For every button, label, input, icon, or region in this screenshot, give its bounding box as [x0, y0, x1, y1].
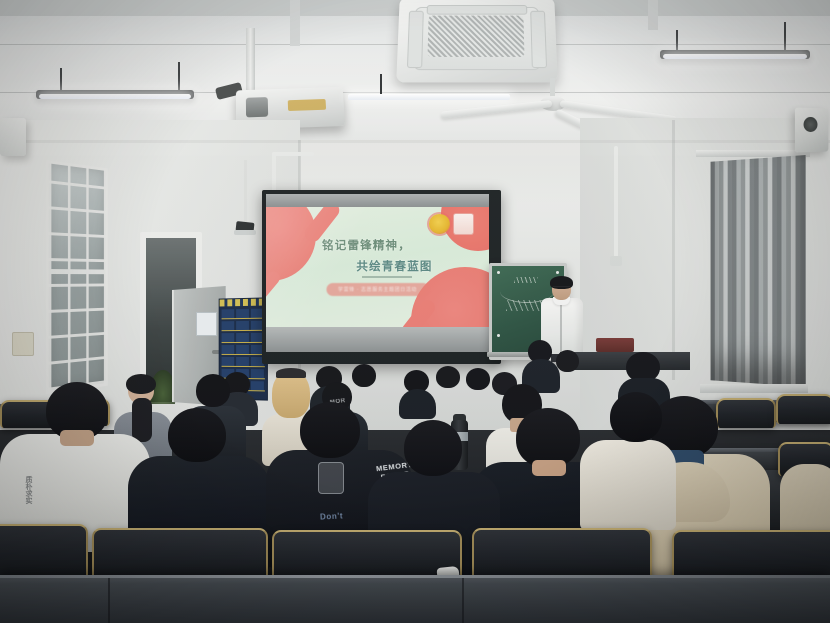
phone-pocket-row — [222, 321, 265, 331]
slide-title-line2: 共绘青春蓝图 — [300, 258, 489, 274]
student-head — [466, 368, 490, 390]
projector-mount — [246, 28, 255, 90]
wall-speaker-right — [795, 107, 828, 152]
lamp-wire — [60, 68, 62, 92]
ac-grille — [428, 16, 525, 57]
board-pin — [497, 334, 500, 337]
speaker-cone — [804, 117, 818, 132]
wall-corner — [672, 120, 675, 380]
door-sign — [196, 312, 217, 336]
student-head — [196, 374, 230, 407]
ponytail — [132, 398, 152, 442]
phone-pocket-row — [222, 357, 265, 367]
ceiling-beam — [290, 0, 300, 46]
window-grid — [49, 163, 106, 390]
classroom-photo: 铭记雷锋精神， 共绘青春蓝图 学雷锋 · 志愿服务主题团日活动 — [0, 0, 830, 623]
student-torso — [580, 440, 676, 530]
front-desk — [560, 352, 690, 370]
ceiling-beam — [648, 0, 658, 30]
desk-seam — [462, 578, 464, 623]
chair[interactable] — [716, 398, 776, 428]
window-sash — [49, 269, 106, 274]
presentation-slide: 铭记雷锋精神， 共绘青春蓝图 学雷锋 · 志愿服务主题团日活动 — [266, 207, 489, 327]
student-hair — [126, 374, 156, 394]
board-pin — [497, 271, 500, 274]
slide-title: 铭记雷锋精神， 共绘青春蓝图 — [266, 237, 489, 274]
student-neck — [60, 430, 94, 446]
phone-board-header — [220, 298, 267, 306]
desk-front-edge — [0, 575, 830, 578]
shirt-chinese-text: 质朴求实 — [24, 476, 32, 504]
student-torso — [399, 389, 436, 419]
student-head — [168, 408, 226, 462]
ac-vane — [407, 11, 424, 68]
jacket-script-text: Don't — [320, 511, 344, 521]
light-switch[interactable] — [12, 332, 34, 356]
classroom-window — [46, 160, 108, 394]
lamp-wire — [178, 62, 180, 90]
lamp-wire — [380, 74, 382, 94]
student-head — [610, 392, 662, 442]
presenter-glasses — [553, 286, 570, 291]
window-sill — [700, 384, 808, 393]
student-head — [352, 364, 376, 387]
board-pin — [556, 271, 559, 274]
phone-pocket-row — [222, 333, 265, 343]
slide-logo-card — [453, 213, 474, 235]
ceiling-lamp — [660, 50, 810, 59]
air-conditioner-unit — [396, 0, 558, 82]
wall-outlet — [610, 256, 622, 266]
chair[interactable] — [776, 394, 830, 424]
chalk-writing — [514, 277, 538, 283]
ceiling-lamp — [36, 90, 194, 99]
camera-base — [234, 230, 256, 235]
screen-bottom-border — [266, 327, 489, 352]
projector-lens — [246, 97, 268, 117]
jacket-patch — [318, 462, 344, 494]
student-head — [300, 402, 360, 458]
student-head — [556, 350, 579, 372]
slide-badge-icon — [429, 214, 450, 234]
wall-conduit — [272, 152, 314, 156]
ac-vane — [530, 11, 547, 68]
slide-logo-group — [429, 213, 475, 235]
slide-title-rule — [362, 276, 412, 278]
student-head — [404, 420, 462, 476]
slide-title-line1: 铭记雷锋精神， — [266, 237, 467, 253]
student-neck — [532, 460, 566, 476]
student-head — [516, 408, 580, 468]
wall-speaker-left — [0, 118, 26, 156]
phone-pocket-row — [222, 345, 265, 355]
student-head — [436, 366, 460, 388]
ac-vane — [427, 5, 528, 15]
screen-top-border — [266, 194, 489, 207]
projector-label — [288, 99, 326, 111]
wall-ceiling-joint — [0, 140, 830, 143]
desk-seam — [108, 578, 110, 623]
lamp-wire — [784, 22, 786, 50]
podium-box — [596, 338, 634, 352]
presenter-shirt-placket — [560, 302, 562, 358]
phone-pocket-row — [222, 309, 265, 320]
window-curtain[interactable] — [711, 155, 806, 387]
hair-band — [276, 368, 306, 378]
wall-conduit — [614, 146, 618, 258]
camera-mount-arm — [244, 160, 247, 224]
foreground-desk — [0, 575, 830, 623]
fluorescent-tube — [348, 94, 510, 100]
slide-subtitle-pill: 学雷锋 · 志愿服务主题团日活动 — [326, 283, 429, 296]
